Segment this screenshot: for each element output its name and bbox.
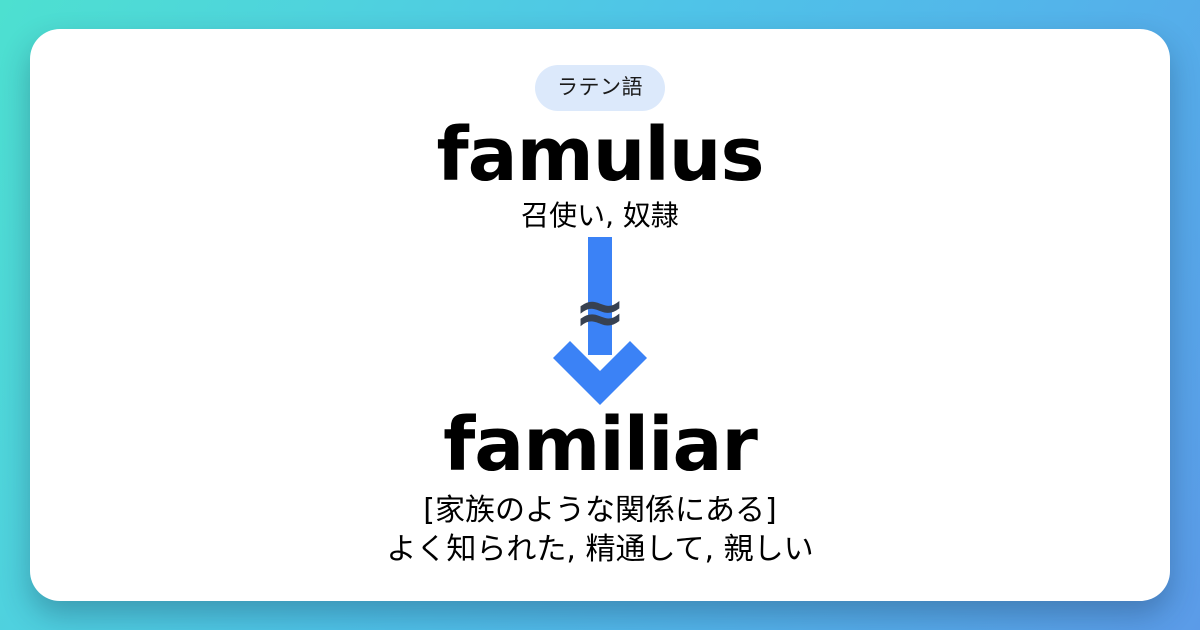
language-badge: ラテン語	[535, 65, 665, 111]
result-block: familiar [家族のような関係にある] よく知られた, 精通して, 親しい	[386, 405, 813, 568]
origin-gloss: 召使い, 奴隷	[521, 198, 679, 233]
origin-word: famulus	[436, 115, 763, 196]
approximately-equal-symbol: ≈	[540, 281, 660, 343]
result-gloss: よく知られた, 精通して, 親しい	[386, 530, 813, 569]
derivation-connector: ≈	[540, 237, 660, 409]
result-word: familiar	[443, 405, 757, 486]
etymology-card: ラテン語 famulus 召使い, 奴隷 ≈ familiar [家族のような関…	[30, 29, 1170, 601]
result-bracket-note: [家族のような関係にある]	[423, 491, 776, 530]
origin-block: ラテン語 famulus 召使い, 奴隷	[436, 65, 763, 233]
